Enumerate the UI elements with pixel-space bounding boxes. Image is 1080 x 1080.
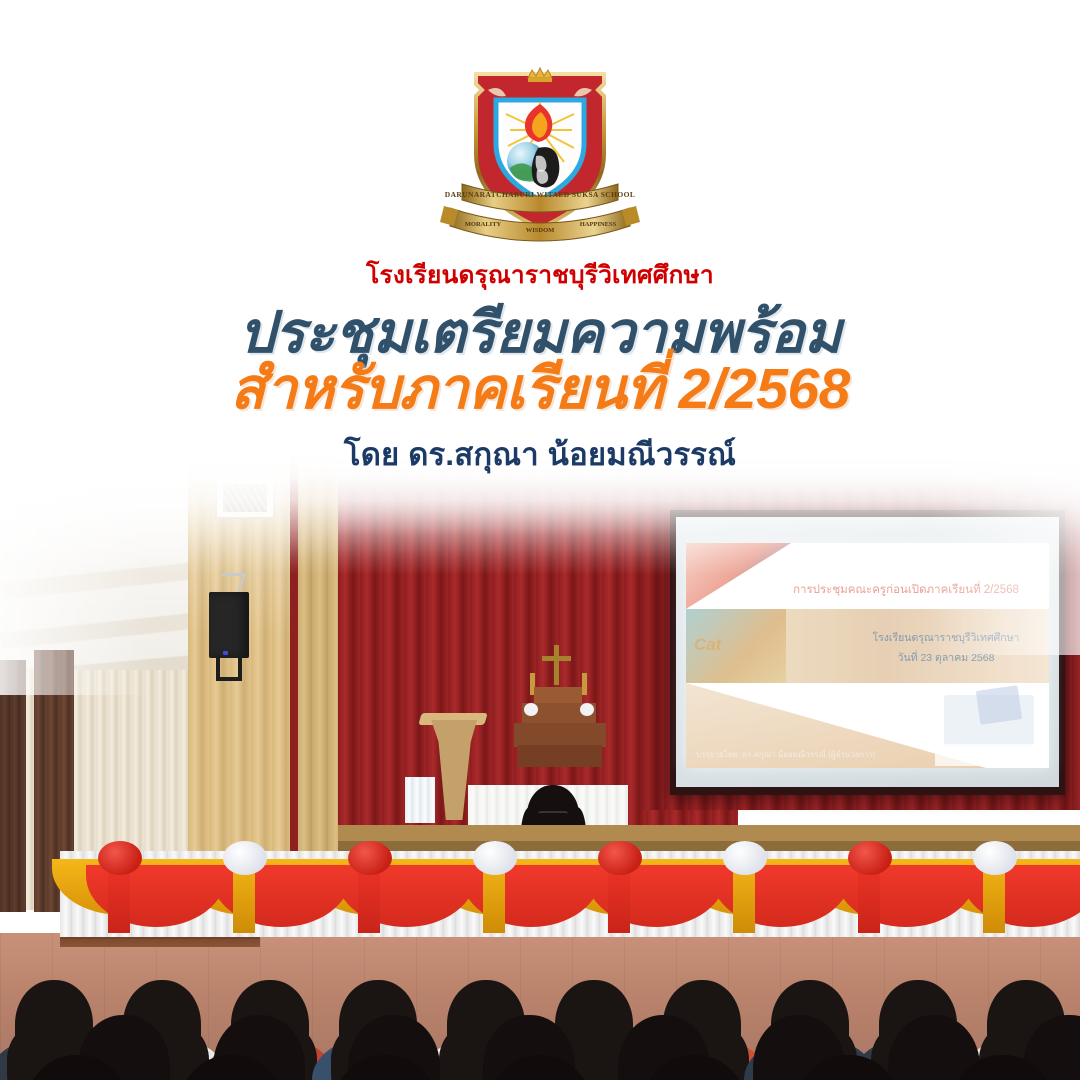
folding-chair <box>405 777 435 823</box>
stage-edge-shadow <box>338 841 1080 851</box>
flower-vase-icon <box>580 703 594 716</box>
pom-pom-decoration <box>348 841 392 875</box>
crest-ribbon-upper-text: DARUNARATCHABURI WITAED SUKSA SCHOOL <box>445 190 635 199</box>
flower-vase-icon <box>524 703 538 716</box>
dark-pillar <box>0 660 26 912</box>
crucifix-icon <box>554 645 559 685</box>
pom-pom-decoration <box>98 841 142 875</box>
pom-pom-decoration <box>723 841 767 875</box>
pa-speaker <box>209 592 249 658</box>
page-title-line2: สำหรับภาคเรียนที่ 2/2568 <box>230 360 850 419</box>
crest-ribbon-happiness-text: HAPPINESS <box>580 221 617 228</box>
altar-tier <box>518 745 602 767</box>
altar-tier <box>514 723 606 747</box>
pom-pom-decoration <box>223 841 267 875</box>
candle-icon <box>582 673 587 695</box>
pom-pom-decoration <box>473 841 517 875</box>
pom-pom-decoration <box>598 841 642 875</box>
crest-ribbon-wisdom-text: WISDOM <box>526 227 555 234</box>
pom-pom-decoration <box>848 841 892 875</box>
wood-wall-red-edge <box>290 455 298 910</box>
speaker-byline: โดย ดร.สกุณา น้อยมณีวรรณ์ <box>344 429 736 479</box>
slide-decor-word: Cat <box>694 635 721 655</box>
pom-pom-decoration <box>973 841 1017 875</box>
projected-slide: การประชุมคณะครูก่อนเปิดภาคเรียนที่ 2/256… <box>686 543 1049 768</box>
slide-school-line: โรงเรียนดรุณาราชบุรีวิเทศศึกษา <box>846 629 1046 646</box>
slide-date-line: วันที่ 23 ตุลาคม 2568 <box>846 649 1046 666</box>
crucifix-icon <box>542 656 571 661</box>
school-name: โรงเรียนดรุณาราชบุรีวิเทศศึกษา <box>366 262 714 290</box>
hall-photo: การประชุมคณะครูก่อนเปิดภาคเรียนที่ 2/256… <box>0 455 1080 1080</box>
altar-with-crucifix <box>510 645 610 767</box>
school-crest-icon: DARUNARATCHABURI WITAED SUKSA SCHOOL MOR… <box>440 56 640 248</box>
page-title-line1: ประชุมเตรียมความพร้อม <box>239 304 841 362</box>
crest-ribbon-morality-text: MORALITY <box>465 221 502 228</box>
poster-root: การประชุมคณะครูก่อนเปิดภาคเรียนที่ 2/256… <box>0 0 1080 1080</box>
wall-picture-frame <box>215 477 275 519</box>
slide-footer-credit: บรรยายโดย: ดร.สกุณา น้อยมณีวรรณ์ (ผู้อำน… <box>696 748 876 761</box>
poster-header: DARUNARATCHABURI WITAED SUKSA SCHOOL MOR… <box>0 0 1080 475</box>
slide-card-graphic <box>976 685 1022 725</box>
speaker-bracket <box>216 655 242 681</box>
school-crest: DARUNARATCHABURI WITAED SUKSA SCHOOL MOR… <box>440 56 640 248</box>
slide-title: การประชุมคณะครูก่อนเปิดภาคเรียนที่ 2/256… <box>781 581 1031 599</box>
presenter-glasses <box>538 811 568 818</box>
slide-note-box <box>935 744 1045 766</box>
